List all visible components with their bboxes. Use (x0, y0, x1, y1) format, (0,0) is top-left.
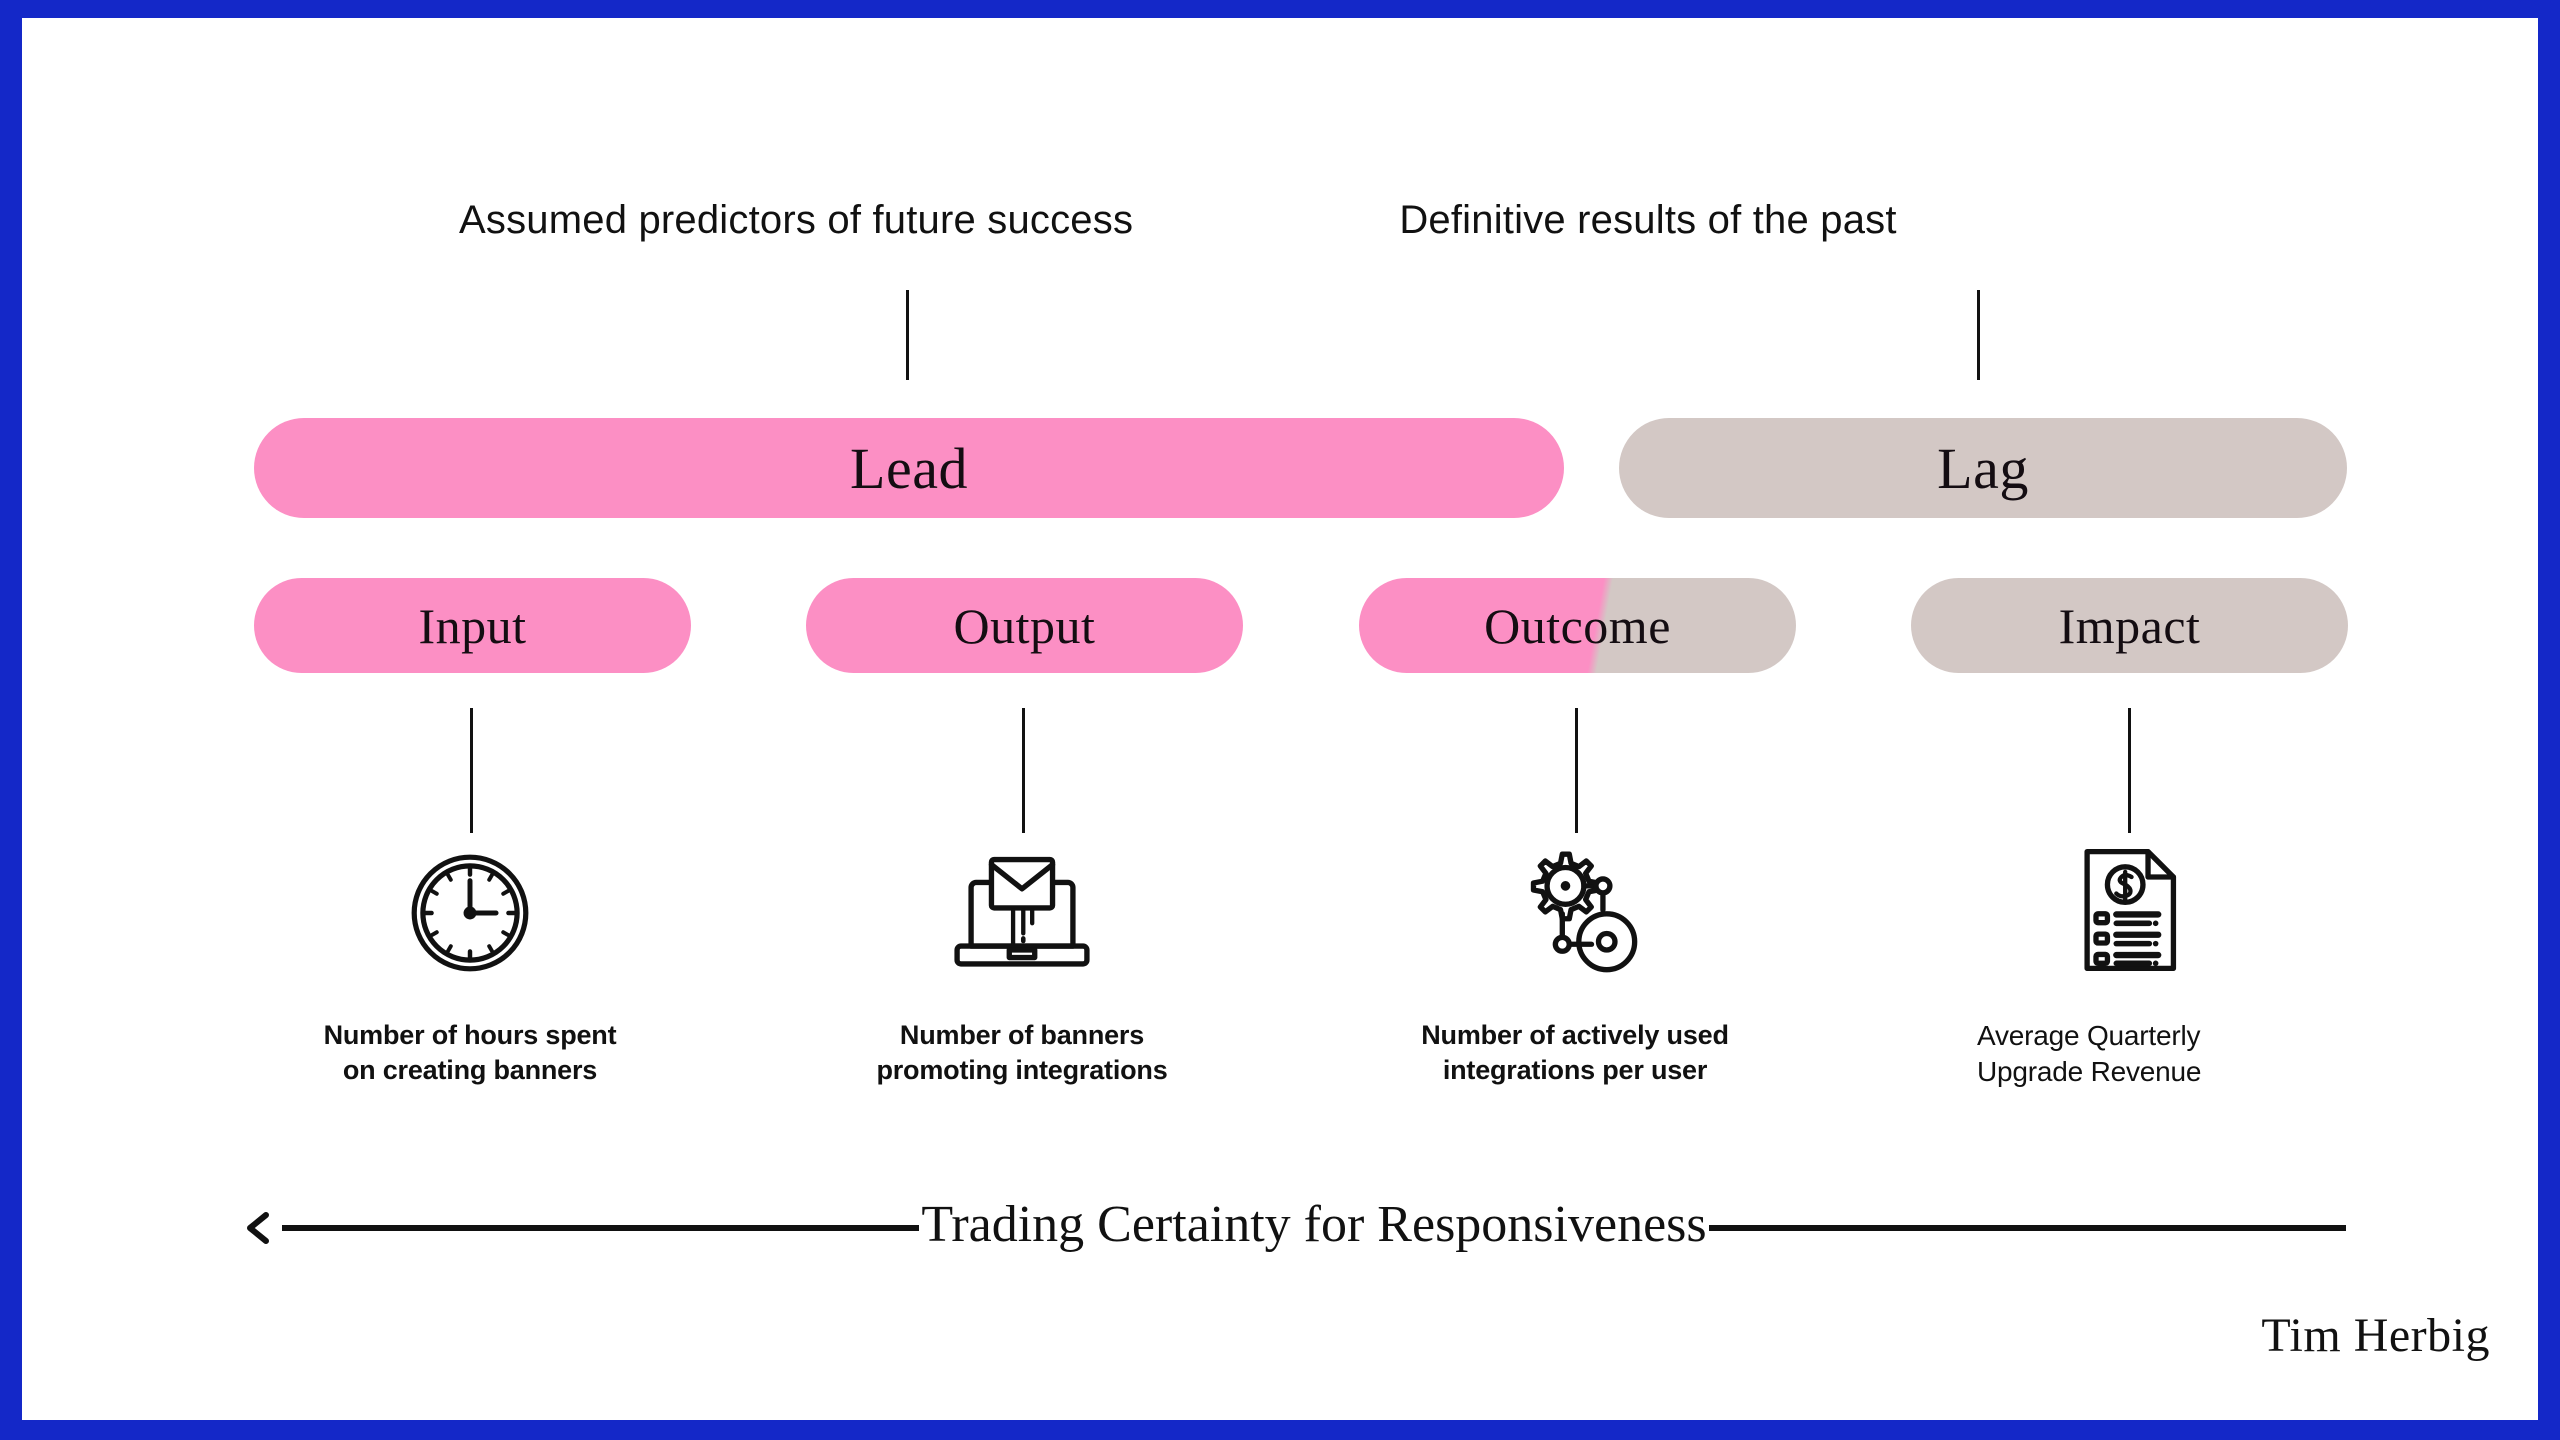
caption-output: Number of banners promoting integrations (822, 1018, 1222, 1088)
pill-lag[interactable]: Lag (1619, 418, 2347, 518)
lead-header-caption: Assumed predictors of future success (459, 198, 1019, 243)
pill-input[interactable]: Input (254, 578, 691, 673)
caption-outcome-line2: integrations per user (1375, 1053, 1775, 1088)
pill-impact-label: Impact (2059, 597, 2201, 655)
connector-line-impact (2128, 708, 2131, 833)
pill-lag-label: Lag (1937, 435, 2029, 502)
laptop-envelope-icon (927, 843, 1117, 983)
caption-impact: Average Quarterly Upgrade Revenue (1977, 1018, 2377, 1091)
caption-output-line2: promoting integrations (822, 1053, 1222, 1088)
caption-output-line1: Number of banners (822, 1018, 1222, 1053)
gear-network-icon (1480, 840, 1670, 980)
axis-arrow: Trading Certainty for Responsiveness (244, 1193, 2346, 1263)
axis-line-left (282, 1225, 919, 1231)
poster-frame: Assumed predictors of future success Def… (0, 0, 2560, 1440)
pill-lead-label: Lead (850, 435, 968, 502)
pill-input-label: Input (418, 597, 526, 655)
pill-lead[interactable]: Lead (254, 418, 1564, 518)
axis-line-right (1709, 1225, 2346, 1231)
caption-outcome-line1: Number of actively used (1375, 1018, 1775, 1053)
connector-line-input (470, 708, 473, 833)
caption-input-line2: on creating banners (270, 1053, 670, 1088)
caption-input-line1: Number of hours spent (270, 1018, 670, 1053)
connector-line-lead (906, 290, 909, 380)
pill-output-label: Output (954, 597, 1096, 655)
pill-outcome-label: Outcome (1484, 597, 1671, 655)
connector-line-outcome (1575, 708, 1578, 833)
caption-outcome: Number of actively used integrations per… (1375, 1018, 1775, 1088)
arrow-left-icon (244, 1208, 284, 1248)
author-signature: Tim Herbig (2261, 1308, 2490, 1363)
lag-header-caption: Definitive results of the past (1368, 198, 1928, 243)
invoice-document-icon (2034, 840, 2224, 980)
caption-input: Number of hours spent on creating banner… (270, 1018, 670, 1088)
pill-impact[interactable]: Impact (1911, 578, 2348, 673)
connector-line-lag (1977, 290, 1980, 380)
pill-outcome[interactable]: Outcome (1359, 578, 1796, 673)
caption-impact-line1: Average Quarterly (1977, 1018, 2377, 1054)
connector-line-output (1022, 708, 1025, 833)
diagram-canvas: Assumed predictors of future success Def… (22, 18, 2538, 1420)
caption-impact-line2: Upgrade Revenue (1977, 1054, 2377, 1090)
clock-icon (375, 843, 565, 983)
axis-label: Trading Certainty for Responsiveness (919, 1195, 1708, 1254)
pill-output[interactable]: Output (806, 578, 1243, 673)
